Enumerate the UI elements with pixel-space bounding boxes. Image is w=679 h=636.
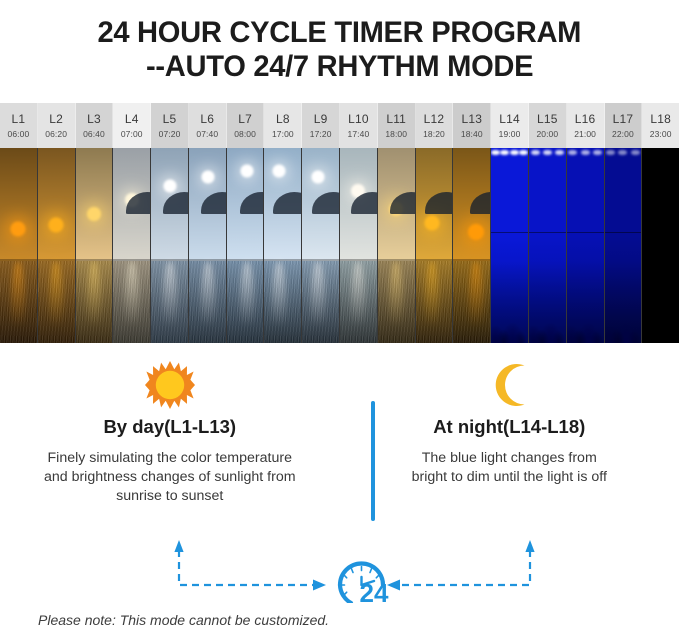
scene-cell-l1 [0, 148, 38, 343]
tank-seam-line [567, 232, 604, 233]
sun-reflection [311, 261, 325, 343]
sun-reflection [351, 261, 365, 343]
led-dot [531, 150, 540, 155]
night-body-line-2: bright to dim until the light is off [412, 468, 607, 487]
sea-layer [378, 261, 415, 343]
timeline-step-time: 17:00 [272, 129, 294, 139]
sky-layer [38, 148, 75, 261]
tank-seam-line [529, 232, 566, 233]
explanation-panels: By day(L1-L13) Finely simulating the col… [0, 343, 679, 528]
timeline-step-time: 17:40 [348, 129, 370, 139]
day-body-line-2: and brightness changes of sunlight from [44, 468, 296, 487]
sea-layer [113, 261, 150, 343]
horizon-line [302, 259, 339, 261]
sun-icon [145, 360, 195, 410]
timeline-cell-l4[interactable]: L407:00 [113, 103, 151, 148]
timeline-step-time: 07:40 [196, 129, 218, 139]
sky-layer [227, 148, 264, 261]
tank-seam-line [605, 232, 642, 233]
horizon-line [0, 259, 37, 261]
timeline-step-time: 06:20 [45, 129, 67, 139]
horizon-line [378, 259, 415, 261]
led-dot [581, 150, 590, 155]
timeline-cell-l16[interactable]: L1621:00 [567, 103, 605, 148]
arrow-head-into-clock-left [313, 580, 326, 591]
led-dot [593, 150, 602, 155]
sun-reflection [469, 261, 483, 343]
timeline-cell-l2[interactable]: L206:20 [38, 103, 76, 148]
horizon-line [340, 259, 377, 261]
horizon-line [76, 259, 113, 261]
sea-layer [302, 261, 339, 343]
scene-strip [0, 148, 679, 343]
scene-cell-l16 [567, 148, 605, 343]
night-body-line-1: The blue light changes from [412, 449, 607, 468]
sea-layer [0, 261, 37, 343]
timeline-step-time: 07:00 [121, 129, 143, 139]
led-dot [606, 150, 615, 155]
sky-layer [151, 148, 188, 261]
right-arrow-head-up [525, 540, 534, 552]
sea-layer [340, 261, 377, 343]
scene-cell-l11 [378, 148, 416, 343]
timeline-cell-l5[interactable]: L507:20 [151, 103, 189, 148]
timeline-step-id: L12 [424, 112, 445, 126]
day-panel-body: Finely simulating the color temperature … [44, 449, 296, 506]
scene-cell-l7 [227, 148, 265, 343]
timeline-cell-l14[interactable]: L1419:00 [491, 103, 529, 148]
led-dot [519, 150, 528, 155]
timeline-step-id: L9 [314, 112, 328, 126]
day-body-line-1: Finely simulating the color temperature [44, 449, 296, 468]
sea-layer [453, 261, 490, 343]
scene-cell-l15 [529, 148, 567, 343]
timeline-step-time: 06:00 [8, 129, 30, 139]
timeline-step-time: 19:00 [499, 129, 521, 139]
timeline-step-time: 21:00 [574, 129, 596, 139]
night-panel-body: The blue light changes from bright to di… [412, 449, 607, 487]
mountain-silhouette [240, 192, 265, 214]
timeline-step-id: L17 [613, 112, 634, 126]
scene-cell-l13 [453, 148, 491, 343]
timeline-step-id: L4 [125, 112, 139, 126]
timeline-step-id: L15 [537, 112, 558, 126]
sea-layer [264, 261, 301, 343]
aquascape-silhouette [567, 261, 604, 343]
horizon-line [264, 259, 301, 261]
aquascape-silhouette [605, 261, 642, 343]
sun-reflection [125, 261, 139, 343]
clock-24-icon: 24 [340, 564, 389, 604]
right-dashed-arrow-path [396, 550, 530, 585]
horizon-line [151, 259, 188, 261]
sea-layer [416, 261, 453, 343]
night-panel-heading: At night(L14-L18) [433, 416, 585, 438]
scene-cell-l18 [642, 148, 679, 343]
sea-layer [189, 261, 226, 343]
sky-layer [189, 148, 226, 261]
sun-reflection [389, 261, 403, 343]
night-water-layer [642, 148, 679, 343]
timeline-cell-l9[interactable]: L917:20 [302, 103, 340, 148]
note-text: Please note: This mode cannot be customi… [38, 612, 329, 628]
sun-disc [273, 164, 286, 177]
sun-disc [10, 222, 25, 237]
timeline-cell-l7[interactable]: L708:00 [227, 103, 265, 148]
sun-reflection [201, 261, 215, 343]
timeline-step-time: 18:20 [423, 129, 445, 139]
horizon-line [453, 259, 490, 261]
timeline-cell-l18[interactable]: L1823:00 [642, 103, 679, 148]
sun-reflection [87, 261, 101, 343]
sun-reflection [11, 261, 25, 343]
sun-disc [424, 215, 439, 230]
mountain-silhouette [201, 192, 226, 214]
sun-disc [87, 207, 101, 221]
sky-layer [113, 148, 150, 261]
led-dot [491, 150, 500, 155]
timeline-cell-l10[interactable]: L1017:40 [340, 103, 378, 148]
scene-cell-l14 [491, 148, 529, 343]
led-dot [510, 150, 519, 155]
title-line-2: --AUTO 24/7 RHYTHM MODE [146, 50, 533, 84]
timeline-cell-l3[interactable]: L306:40 [76, 103, 114, 148]
sun-disc [240, 164, 253, 177]
sky-layer [0, 148, 37, 261]
moon-icon [486, 360, 532, 410]
sky-layer [76, 148, 113, 261]
timeline-step-id: L8 [276, 112, 290, 126]
led-dot [618, 150, 627, 155]
scene-cell-l12 [416, 148, 454, 343]
timeline-cell-l15[interactable]: L1520:00 [529, 103, 567, 148]
timeline-label-row: L106:00L206:20L306:40L407:00L507:20L607:… [0, 103, 679, 148]
sun-disc [468, 224, 484, 240]
timeline-step-id: L13 [461, 112, 482, 126]
panel-divider [371, 401, 375, 521]
clock-24-label: 24 [360, 578, 389, 603]
sky-layer [378, 148, 415, 261]
timeline-step-id: L14 [499, 112, 520, 126]
timeline-step-id: L10 [348, 112, 369, 126]
timeline-cell-l6[interactable]: L607:40 [189, 103, 227, 148]
sea-layer [227, 261, 264, 343]
timeline-step-id: L5 [163, 112, 177, 126]
timeline-step-id: L7 [238, 112, 252, 126]
timeline-step-time: 06:40 [83, 129, 105, 139]
led-dot [500, 150, 509, 155]
day-panel-heading: By day(L1-L13) [103, 416, 236, 438]
led-dot [555, 150, 564, 155]
scene-cell-l4 [113, 148, 151, 343]
sun-disc [312, 171, 325, 184]
timeline-step-id: L3 [87, 112, 101, 126]
led-dot [543, 150, 552, 155]
arrow-head-into-clock-right [387, 580, 400, 591]
sun-disc [49, 217, 64, 232]
left-arrow-head-up [174, 540, 183, 552]
led-dot [568, 150, 577, 155]
sun-reflection [240, 261, 254, 343]
timeline-step-time: 07:20 [159, 129, 181, 139]
scene-cell-l2 [38, 148, 76, 343]
timeline-step-time: 18:00 [385, 129, 407, 139]
scene-cell-l17 [605, 148, 643, 343]
horizon-line [38, 259, 75, 261]
horizon-line [113, 259, 150, 261]
timeline-step-id: L2 [49, 112, 63, 126]
timeline-step-id: L6 [200, 112, 214, 126]
led-strip [491, 148, 528, 157]
led-strip [529, 148, 566, 157]
mountain-silhouette [312, 192, 340, 214]
title-line-1: 24 HOUR CYCLE TIMER PROGRAM [98, 16, 582, 50]
timeline-step-time: 08:00 [234, 129, 256, 139]
sky-layer [416, 148, 453, 261]
sun-reflection [425, 261, 439, 343]
timeline-cell-l13[interactable]: L1318:40 [453, 103, 491, 148]
horizon-line [416, 259, 453, 261]
sea-layer [151, 261, 188, 343]
sky-layer [264, 148, 301, 261]
left-dashed-arrow-path [179, 550, 316, 585]
sky-layer [340, 148, 377, 261]
mountain-silhouette [273, 192, 303, 214]
timeline-step-time: 23:00 [650, 129, 672, 139]
timeline-step-id: L11 [386, 112, 406, 126]
led-strip [605, 148, 642, 157]
night-panel: At night(L14-L18) The blue light changes… [340, 343, 679, 528]
sky-layer [453, 148, 490, 261]
timeline-step-time: 20:00 [536, 129, 558, 139]
timeline-step-id: L1 [12, 112, 26, 126]
scene-cell-l5 [151, 148, 189, 343]
led-strip [567, 148, 604, 157]
timeline-cell-l11[interactable]: L1118:00 [378, 103, 416, 148]
sun-reflection [49, 261, 63, 343]
timeline-step-id: L18 [650, 112, 671, 126]
led-dot [631, 150, 640, 155]
scene-cell-l3 [76, 148, 114, 343]
sky-layer [302, 148, 339, 261]
tank-seam-line [491, 232, 528, 233]
scene-cell-l6 [189, 148, 227, 343]
horizon-line [189, 259, 226, 261]
timeline-cell-l1[interactable]: L106:00 [0, 103, 38, 148]
timeline-cell-l12[interactable]: L1218:20 [416, 103, 454, 148]
sun-reflection [163, 261, 177, 343]
page-root: 24 HOUR CYCLE TIMER PROGRAM --AUTO 24/7 … [0, 0, 679, 636]
timeline-step-time: 18:40 [461, 129, 483, 139]
scene-cell-l10 [340, 148, 378, 343]
timeline-step-id: L16 [575, 112, 596, 126]
sea-layer [38, 261, 75, 343]
day-panel: By day(L1-L13) Finely simulating the col… [0, 343, 340, 528]
scene-cell-l8 [264, 148, 302, 343]
timeline-cell-l8[interactable]: L817:00 [264, 103, 302, 148]
timeline-step-time: 22:00 [612, 129, 634, 139]
sun-reflection [272, 261, 286, 343]
scene-cell-l9 [302, 148, 340, 343]
sun-disc [163, 180, 176, 193]
sea-layer [76, 261, 113, 343]
page-title: 24 HOUR CYCLE TIMER PROGRAM --AUTO 24/7 … [0, 0, 679, 100]
sun-disc [202, 171, 215, 184]
mountain-silhouette [470, 192, 492, 214]
aquascape-silhouette [529, 261, 566, 343]
timeline-cell-l17[interactable]: L1722:00 [605, 103, 643, 148]
day-body-line-3: sunrise to sunset [44, 487, 296, 506]
cycle-loop-diagram: 24 [0, 528, 679, 603]
aquascape-silhouette [491, 261, 528, 343]
timeline-step-time: 17:20 [310, 129, 332, 139]
horizon-line [227, 259, 264, 261]
mountain-silhouette [425, 192, 453, 214]
